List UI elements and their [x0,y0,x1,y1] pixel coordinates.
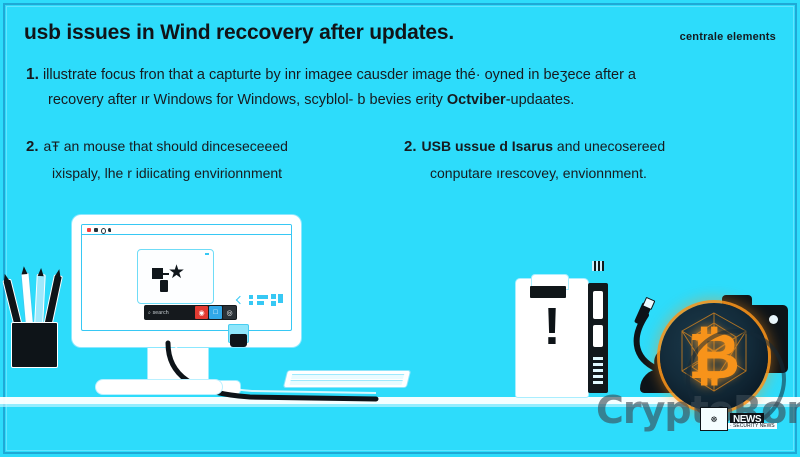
badge-subtext: · SECURITY NEWS [728,423,777,429]
pencil-4 [44,275,62,327]
keyboard-row [290,380,403,385]
tower-strip [530,286,566,298]
corner-note: centrale elements [680,31,776,43]
inner-window[interactable]: ★ [137,249,214,304]
pencil-cup [12,323,57,367]
right-bullet-2-line-1-bold: USB ussue d Isarus [422,138,554,154]
pencil-tip-icon [21,266,28,274]
second-keyboard[interactable] [284,371,410,387]
pencil-tip-icon [55,269,63,278]
tile-icon [257,295,268,299]
circle-dot-icon[interactable] [101,228,106,234]
screenshot-root: usb issues in Wind reccovery after updat… [0,0,800,457]
keyboard[interactable] [96,380,222,394]
bullet-1-line-2: recovery after ır Windows for Windows, s… [26,88,774,113]
bullet-item-2-right: 2.USB ussue d Isarus and unecosereed con… [404,133,784,186]
bullet-item-2-left: 2.aŦ an mouse that should dinceseceeed i… [26,133,386,186]
usb-device-tower: ! [516,279,588,397]
star-icon: ★ [168,263,185,282]
page-title: usb issues in Wind reccovery after updat… [24,21,454,45]
pencil-3 [35,275,45,327]
cursor-icon [236,296,244,304]
pin-dot-icon[interactable] [108,228,111,232]
right-bullet-2-line-1-post: and unecosereed [553,138,665,154]
bullet-1-line-2-pre: recovery after ır Windows for Windows, s… [48,92,447,108]
pencil-tip-icon [2,273,10,282]
tile-icon [249,295,253,299]
keyboard-row [291,374,404,379]
warning-exclamation-icon: ! [516,301,588,353]
square-glyph-icon [152,268,163,279]
pencil-2 [21,273,33,325]
illustration: ★ ⌕ search ◉ □ ◎ [0,195,800,457]
window-dash-icon [205,253,209,255]
bullet-1-line-2-post: -updaates. [506,92,575,108]
left-bullet-2-line-2: ixispaly, lhe r idiicating envirionnment [26,160,386,186]
bullet-item-1: 1.illustrate focus fron that a capturte … [26,62,774,113]
close-dot-icon[interactable] [87,228,91,232]
bullet-1-line-1: illustrate focus fron that a capturte by… [43,67,636,83]
pencil-tip-icon [38,268,44,276]
badge-mark-icon: ☸ [700,407,728,431]
left-bullet-2-line-1: aŦ an mouse that should dinceseceeed [44,138,288,154]
camera-flash-icon [769,315,778,324]
square-dot-icon[interactable] [94,228,98,232]
bullet-1-line-2-bold: Octviber [447,92,506,108]
right-bullet-2-number: 2. [404,138,417,155]
right-bullet-2-line-2: conputare ırescovey, envionnment. [404,160,784,186]
left-bullet-2-number: 2. [26,138,39,155]
bullet-1-number: 1. [26,66,39,83]
screen-title-bar [82,225,291,235]
tile-icon [278,294,283,303]
tile-icon [271,294,276,299]
watermark-badge: ☸ NEWS · SECURITY NEWS [700,407,790,431]
tower-vent-grid [592,261,604,271]
small-square-glyph-icon [160,280,168,292]
